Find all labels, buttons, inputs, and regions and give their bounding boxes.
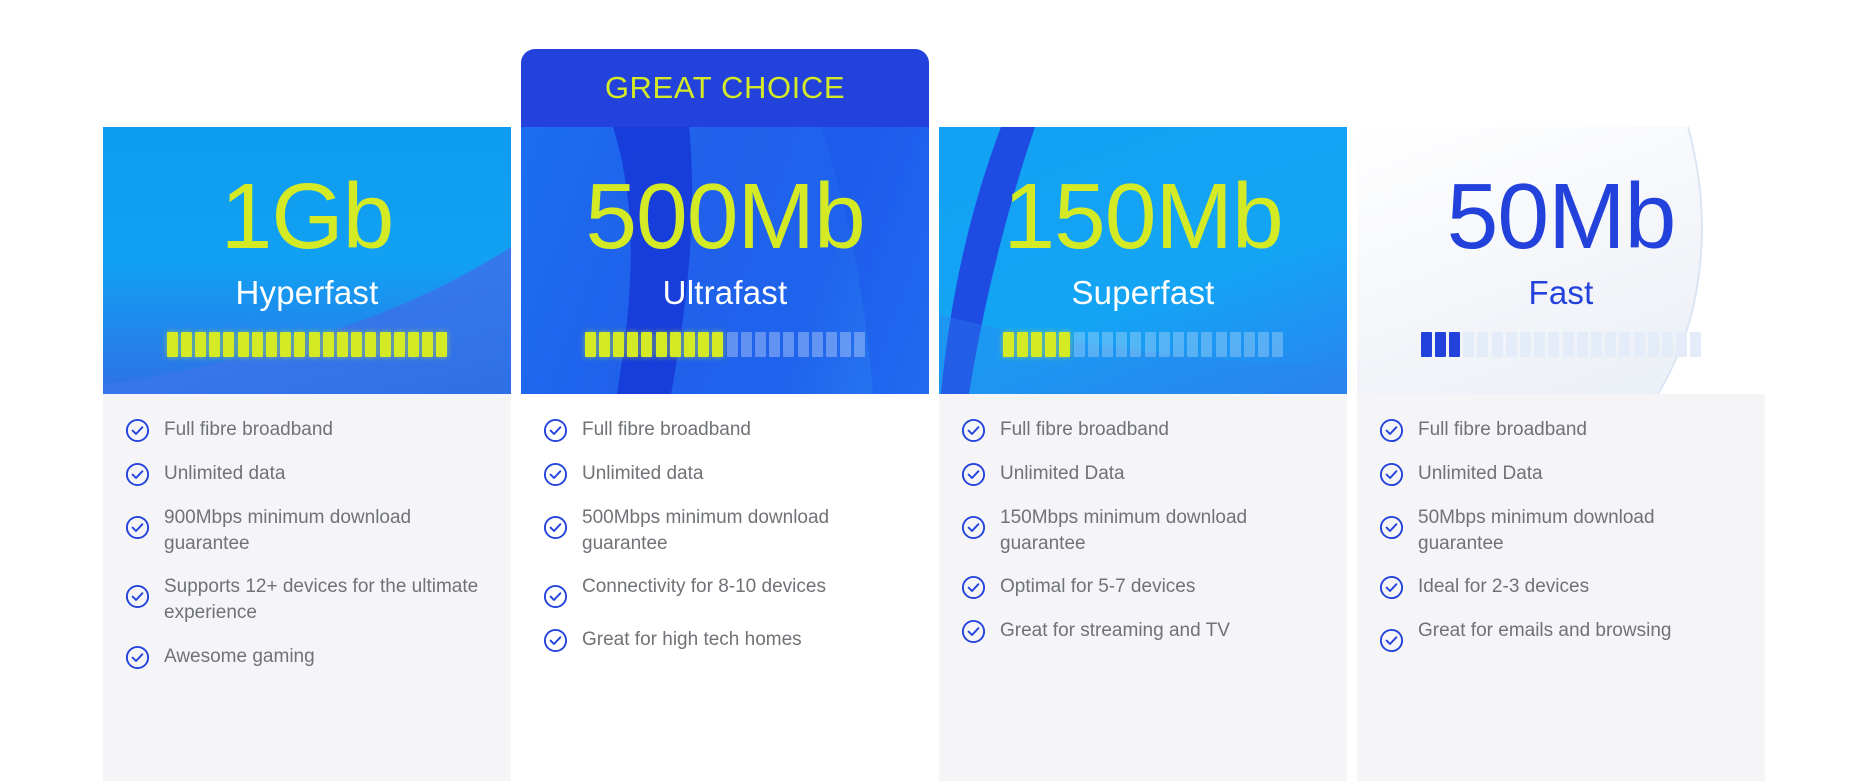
plan-feature-item: 500Mbps minimum download guarantee bbox=[543, 504, 907, 556]
plan-feature-item: Optimal for 5-7 devices bbox=[961, 573, 1325, 600]
plan-feature-label: Awesome gaming bbox=[164, 643, 315, 670]
plan-card[interactable]: 150MbSuperfastFull fibre broadbandUnlimi… bbox=[939, 49, 1347, 781]
speed-meter-segment bbox=[1563, 332, 1574, 357]
plan-feature-list: Full fibre broadbandUnlimited data500Mbp… bbox=[521, 394, 929, 781]
check-circle-icon bbox=[961, 462, 986, 487]
speed-meter-segment bbox=[238, 332, 249, 357]
speed-meter-segment bbox=[1449, 332, 1460, 357]
speed-meter-segment bbox=[422, 332, 433, 357]
plan-feature-item: Unlimited data bbox=[543, 460, 907, 487]
speed-meter-segment bbox=[408, 332, 419, 357]
speed-meter-segment bbox=[167, 332, 178, 357]
plan-feature-label: Unlimited Data bbox=[1000, 460, 1125, 487]
plan-feature-label: Ideal for 2-3 devices bbox=[1418, 573, 1589, 600]
speed-meter-segment bbox=[394, 332, 405, 357]
plan-feature-label: 150Mbps minimum download guarantee bbox=[1000, 504, 1325, 556]
plan-feature-label: Unlimited data bbox=[164, 460, 285, 487]
speed-meter-segment bbox=[798, 332, 809, 357]
plan-feature-label: 50Mbps minimum download guarantee bbox=[1418, 504, 1743, 556]
speed-meter-segment bbox=[351, 332, 362, 357]
speed-meter-segment bbox=[769, 332, 780, 357]
plan-hero-content: 150MbSuperfast bbox=[939, 127, 1347, 357]
check-circle-icon bbox=[1379, 515, 1404, 540]
speed-meter-segment bbox=[1662, 332, 1673, 357]
speed-meter-segment bbox=[656, 332, 667, 357]
broadband-plans-section: 1GbHyperfastFull fibre broadbandUnlimite… bbox=[0, 0, 1873, 781]
plan-feature-label: Unlimited data bbox=[582, 460, 703, 487]
speed-meter-segment bbox=[684, 332, 695, 357]
check-circle-icon bbox=[125, 645, 150, 670]
check-circle-icon bbox=[125, 584, 150, 609]
plan-card-list: 1GbHyperfastFull fibre broadbandUnlimite… bbox=[103, 49, 1787, 781]
speed-meter-segment bbox=[1017, 332, 1028, 357]
plan-feature-list: Full fibre broadbandUnlimited Data150Mbp… bbox=[939, 394, 1347, 781]
speed-meter-segment bbox=[627, 332, 638, 357]
plan-feature-label: Full fibre broadband bbox=[164, 416, 333, 443]
speed-meter-segment bbox=[1463, 332, 1474, 357]
plan-feature-item: Great for emails and browsing bbox=[1379, 617, 1743, 653]
speed-meter-segment bbox=[670, 332, 681, 357]
check-circle-icon bbox=[125, 462, 150, 487]
speed-meter-segment bbox=[854, 332, 865, 357]
speed-meter-segment bbox=[1031, 332, 1042, 357]
plan-feature-label: Optimal for 5-7 devices bbox=[1000, 573, 1195, 600]
check-circle-icon bbox=[1379, 628, 1404, 653]
plan-badge-slot bbox=[939, 49, 1347, 127]
speed-meter-segment bbox=[783, 332, 794, 357]
plan-feature-label: Great for high tech homes bbox=[582, 626, 802, 653]
great-choice-badge: GREAT CHOICE bbox=[521, 49, 929, 127]
plan-tier-name: Fast bbox=[1529, 274, 1594, 312]
check-circle-icon bbox=[1379, 575, 1404, 600]
speed-meter-segment bbox=[1676, 332, 1687, 357]
check-circle-icon bbox=[543, 418, 568, 443]
speed-meter-segment bbox=[223, 332, 234, 357]
speed-meter bbox=[1421, 332, 1702, 357]
speed-meter-segment bbox=[1648, 332, 1659, 357]
speed-meter-segment bbox=[380, 332, 391, 357]
check-circle-icon bbox=[1379, 418, 1404, 443]
speed-meter-segment bbox=[599, 332, 610, 357]
speed-meter-segment bbox=[1577, 332, 1588, 357]
speed-meter-segment bbox=[1074, 332, 1085, 357]
plan-hero: 1GbHyperfast bbox=[103, 127, 511, 394]
speed-meter-segment bbox=[1634, 332, 1645, 357]
plan-badge-slot bbox=[103, 49, 511, 127]
plan-feature-label: 900Mbps minimum download guarantee bbox=[164, 504, 489, 556]
plan-hero: 50MbFast bbox=[1357, 127, 1765, 394]
speed-meter-segment bbox=[337, 332, 348, 357]
plan-tier-name: Ultrafast bbox=[663, 274, 788, 312]
speed-meter-segment bbox=[1145, 332, 1156, 357]
speed-meter-segment bbox=[727, 332, 738, 357]
plan-tier-name: Hyperfast bbox=[235, 274, 378, 312]
plan-speed: 500Mb bbox=[585, 174, 864, 260]
plan-hero-content: 500MbUltrafast bbox=[521, 127, 929, 357]
speed-meter-segment bbox=[436, 332, 447, 357]
speed-meter-segment bbox=[1130, 332, 1141, 357]
plan-feature-label: Great for streaming and TV bbox=[1000, 617, 1230, 644]
plan-hero: 500MbUltrafast bbox=[521, 127, 929, 394]
check-circle-icon bbox=[1379, 462, 1404, 487]
speed-meter-segment bbox=[812, 332, 823, 357]
plan-feature-item: Full fibre broadband bbox=[961, 416, 1325, 443]
plan-speed: 1Gb bbox=[221, 174, 394, 260]
plan-feature-item: Full fibre broadband bbox=[1379, 416, 1743, 443]
plan-card[interactable]: 1GbHyperfastFull fibre broadbandUnlimite… bbox=[103, 49, 511, 781]
check-circle-icon bbox=[543, 462, 568, 487]
speed-meter-segment bbox=[613, 332, 624, 357]
check-circle-icon bbox=[961, 515, 986, 540]
speed-meter-segment bbox=[280, 332, 291, 357]
speed-meter-segment bbox=[1421, 332, 1432, 357]
speed-meter-segment bbox=[1534, 332, 1545, 357]
check-circle-icon bbox=[961, 619, 986, 644]
speed-meter-segment bbox=[1690, 332, 1701, 357]
speed-meter-segment bbox=[181, 332, 192, 357]
plan-speed: 50Mb bbox=[1447, 174, 1676, 260]
speed-meter-segment bbox=[741, 332, 752, 357]
speed-meter-segment bbox=[209, 332, 220, 357]
check-circle-icon bbox=[125, 515, 150, 540]
plan-feature-item: Great for streaming and TV bbox=[961, 617, 1325, 644]
speed-meter-segment bbox=[1272, 332, 1283, 357]
plan-hero-content: 50MbFast bbox=[1357, 127, 1765, 357]
plan-card[interactable]: GREAT CHOICE500MbUltrafastFull fibre bro… bbox=[521, 49, 929, 781]
plan-tier-name: Superfast bbox=[1071, 274, 1214, 312]
speed-meter-segment bbox=[323, 332, 334, 357]
plan-feature-label: Supports 12+ devices for the ultimate ex… bbox=[164, 573, 489, 625]
speed-meter-segment bbox=[1116, 332, 1127, 357]
plan-feature-item: Ideal for 2-3 devices bbox=[1379, 573, 1743, 600]
speed-meter-segment bbox=[195, 332, 206, 357]
speed-meter-segment bbox=[585, 332, 596, 357]
plan-feature-item: Unlimited Data bbox=[961, 460, 1325, 487]
plan-feature-item: Full fibre broadband bbox=[125, 416, 489, 443]
plan-feature-label: Full fibre broadband bbox=[582, 416, 751, 443]
plan-feature-item: 900Mbps minimum download guarantee bbox=[125, 504, 489, 556]
check-circle-icon bbox=[543, 515, 568, 540]
speed-meter-segment bbox=[1619, 332, 1630, 357]
plan-speed: 150Mb bbox=[1003, 174, 1282, 260]
speed-meter-segment bbox=[266, 332, 277, 357]
speed-meter-segment bbox=[826, 332, 837, 357]
speed-meter-segment bbox=[1102, 332, 1113, 357]
speed-meter-segment bbox=[641, 332, 652, 357]
speed-meter-segment bbox=[712, 332, 723, 357]
plan-feature-item: 150Mbps minimum download guarantee bbox=[961, 504, 1325, 556]
plan-feature-item: Connectivity for 8-10 devices bbox=[543, 573, 907, 609]
speed-meter-segment bbox=[1520, 332, 1531, 357]
speed-meter bbox=[1003, 332, 1284, 357]
plan-feature-label: Unlimited Data bbox=[1418, 460, 1543, 487]
check-circle-icon bbox=[961, 575, 986, 600]
speed-meter-segment bbox=[698, 332, 709, 357]
plan-badge-slot bbox=[1357, 49, 1765, 127]
plan-hero-content: 1GbHyperfast bbox=[103, 127, 511, 357]
speed-meter-segment bbox=[1435, 332, 1446, 357]
speed-meter-segment bbox=[1216, 332, 1227, 357]
speed-meter-segment bbox=[1244, 332, 1255, 357]
speed-meter-segment bbox=[1045, 332, 1056, 357]
speed-meter-segment bbox=[1088, 332, 1099, 357]
speed-meter-segment bbox=[294, 332, 305, 357]
plan-feature-item: Unlimited data bbox=[125, 460, 489, 487]
plan-feature-item: Awesome gaming bbox=[125, 643, 489, 670]
speed-meter-segment bbox=[1258, 332, 1269, 357]
plan-feature-list: Full fibre broadbandUnlimited data900Mbp… bbox=[103, 394, 511, 781]
plan-feature-item: Full fibre broadband bbox=[543, 416, 907, 443]
plan-badge-slot: GREAT CHOICE bbox=[521, 49, 929, 127]
speed-meter-segment bbox=[1059, 332, 1070, 357]
speed-meter-segment bbox=[1506, 332, 1517, 357]
plan-feature-item: Unlimited Data bbox=[1379, 460, 1743, 487]
plan-feature-list: Full fibre broadbandUnlimited Data50Mbps… bbox=[1357, 394, 1765, 781]
plan-hero: 150MbSuperfast bbox=[939, 127, 1347, 394]
plan-feature-item: Great for high tech homes bbox=[543, 626, 907, 653]
speed-meter-segment bbox=[1173, 332, 1184, 357]
speed-meter bbox=[585, 332, 866, 357]
plan-feature-label: 500Mbps minimum download guarantee bbox=[582, 504, 907, 556]
speed-meter-segment bbox=[1159, 332, 1170, 357]
speed-meter-segment bbox=[840, 332, 851, 357]
speed-meter-segment bbox=[1548, 332, 1559, 357]
plan-feature-label: Connectivity for 8-10 devices bbox=[582, 573, 826, 600]
speed-meter-segment bbox=[1003, 332, 1014, 357]
speed-meter bbox=[167, 332, 448, 357]
speed-meter-segment bbox=[309, 332, 320, 357]
speed-meter-segment bbox=[1230, 332, 1241, 357]
check-circle-icon bbox=[961, 418, 986, 443]
plan-feature-item: Supports 12+ devices for the ultimate ex… bbox=[125, 573, 489, 625]
speed-meter-segment bbox=[1477, 332, 1488, 357]
speed-meter-segment bbox=[365, 332, 376, 357]
speed-meter-segment bbox=[755, 332, 766, 357]
speed-meter-segment bbox=[252, 332, 263, 357]
check-circle-icon bbox=[125, 418, 150, 443]
speed-meter-segment bbox=[1201, 332, 1212, 357]
check-circle-icon bbox=[543, 628, 568, 653]
speed-meter-segment bbox=[1492, 332, 1503, 357]
speed-meter-segment bbox=[1187, 332, 1198, 357]
check-circle-icon bbox=[543, 584, 568, 609]
plan-feature-label: Full fibre broadband bbox=[1000, 416, 1169, 443]
plan-feature-label: Full fibre broadband bbox=[1418, 416, 1587, 443]
plan-feature-label: Great for emails and browsing bbox=[1418, 617, 1671, 644]
speed-meter-segment bbox=[1591, 332, 1602, 357]
speed-meter-segment bbox=[1605, 332, 1616, 357]
plan-feature-item: 50Mbps minimum download guarantee bbox=[1379, 504, 1743, 556]
plan-card[interactable]: 50MbFastFull fibre broadbandUnlimited Da… bbox=[1357, 49, 1765, 781]
